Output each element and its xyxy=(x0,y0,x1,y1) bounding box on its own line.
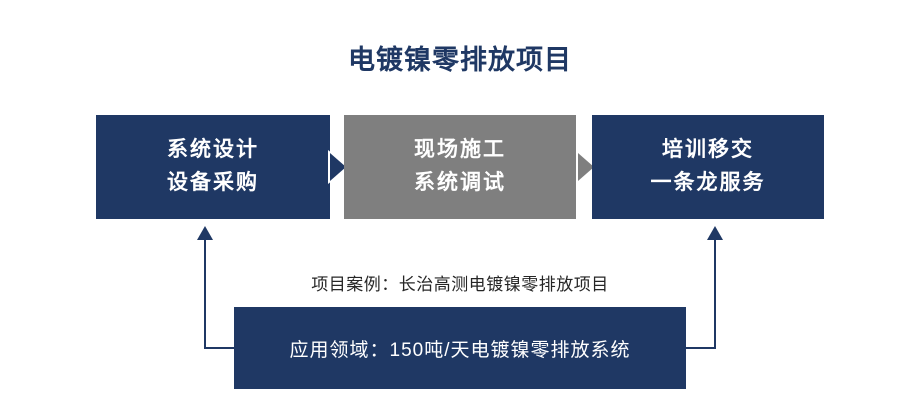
application-bar[interactable]: 应用领域：150吨/天电镀镍零排放系统 xyxy=(234,307,686,389)
flow-step-construction[interactable]: 现场施工 系统调试 xyxy=(344,115,576,219)
diagram-canvas: 电镀镍零排放项目 系统设计 设备采购 现场施工 系统调试 培训移交 一条龙服务 … xyxy=(0,0,920,419)
connector-right-vertical xyxy=(714,238,716,348)
flow-step-design[interactable]: 系统设计 设备采购 xyxy=(96,115,330,219)
connector-left-horizontal xyxy=(204,347,235,349)
page-title: 电镀镍零排放项目 xyxy=(0,38,920,77)
flow-step-design-line2: 设备采购 xyxy=(167,167,259,200)
connector-right-horizontal xyxy=(685,347,716,349)
flow-step-training-line1: 培训移交 xyxy=(662,134,754,167)
arrow-up-icon-right xyxy=(707,226,723,240)
connector-left-vertical xyxy=(204,238,206,348)
arrow-up-icon-left xyxy=(197,226,213,240)
flow-step-construction-line2: 系统调试 xyxy=(414,167,506,200)
flow-step-construction-line1: 现场施工 xyxy=(414,134,506,167)
flow-step-training[interactable]: 培训移交 一条龙服务 xyxy=(592,115,824,219)
flow-step-training-line2: 一条龙服务 xyxy=(651,167,766,200)
application-bar-label: 应用领域：150吨/天电镀镍零排放系统 xyxy=(290,335,631,362)
flow-step-design-line1: 系统设计 xyxy=(167,134,259,167)
case-caption: 项目案例：长治高测电镀镍零排放项目 xyxy=(234,270,686,295)
